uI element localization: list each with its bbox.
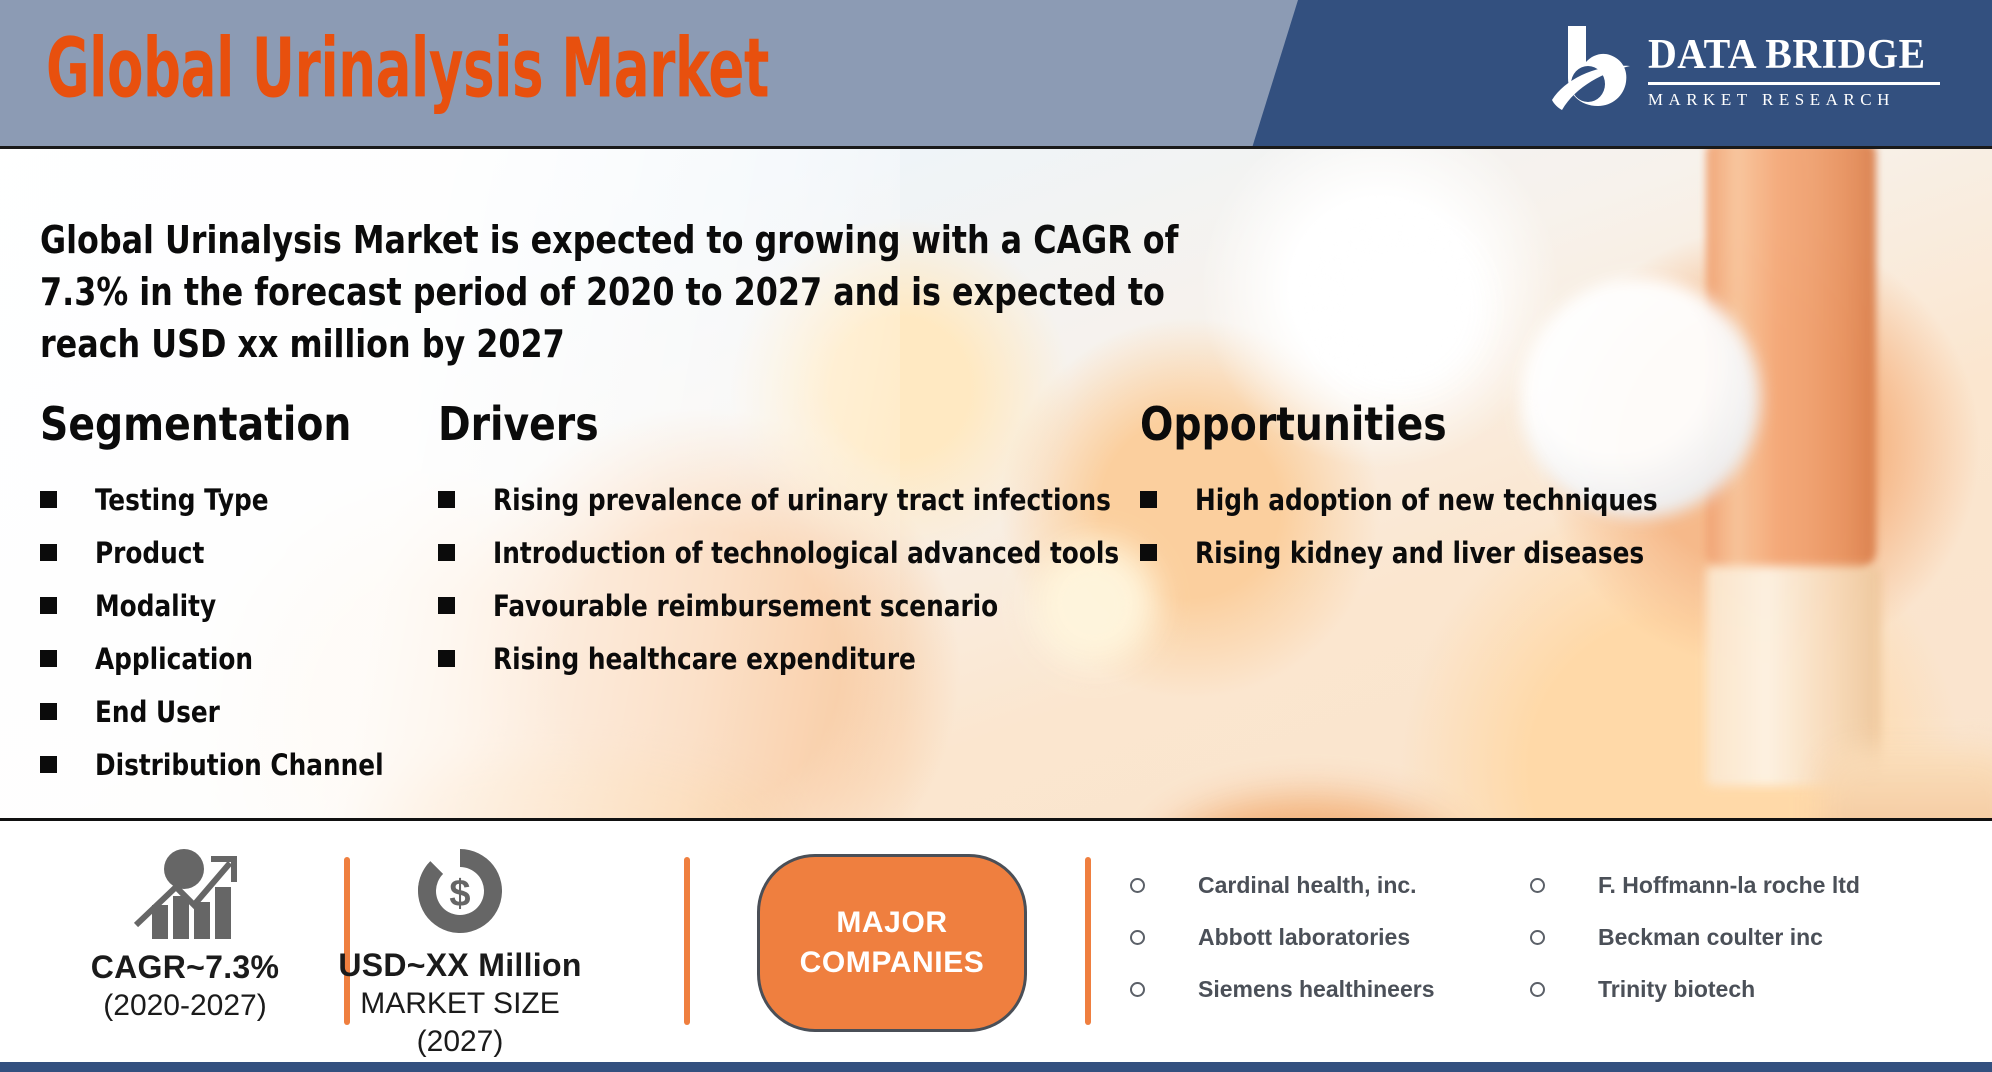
column-heading: Segmentation — [40, 396, 354, 452]
list-item: Abbott laboratories — [1130, 917, 1530, 957]
stat-year: (2027) — [330, 1023, 590, 1061]
column-opportunities: Opportunities High adoption of new techn… — [1140, 396, 1700, 584]
content-divider-rule — [0, 818, 1992, 821]
companies-column-right: F. Hoffmann-la roche ltd Beckman coulter… — [1530, 865, 1930, 1021]
company-name: Trinity biotech — [1598, 976, 1755, 1003]
opportunities-list: High adoption of new techniques Rising k… — [1140, 478, 1700, 575]
column-drivers: Drivers Rising prevalence of urinary tra… — [438, 396, 998, 690]
list-item-label: Distribution Channel — [95, 743, 384, 787]
list-item: High adoption of new techniques — [1140, 478, 1700, 522]
list-item-label: Favourable reimbursement scenario — [493, 584, 998, 628]
list-item-label: Product — [95, 531, 204, 575]
major-companies-label-line2: COMPANIES — [800, 943, 985, 983]
stat-period: (2020-2027) — [60, 987, 310, 1025]
data-bridge-b-swoosh-icon — [1550, 22, 1634, 118]
main-content: Global Urinalysis Market is expected to … — [0, 148, 1992, 818]
circle-bullet-icon — [1530, 878, 1545, 893]
company-name: Abbott laboratories — [1198, 924, 1410, 951]
logo-wordmark: DATA BRIDGE MARKET RESEARCH — [1648, 32, 1940, 109]
list-item: Trinity biotech — [1530, 969, 1930, 1009]
stat-market-size: $ USD~XX Million MARKET SIZE (2027) — [330, 843, 590, 1061]
square-bullet-icon — [438, 544, 455, 561]
major-companies-list: Cardinal health, inc. Abbott laboratorie… — [1130, 865, 1990, 1021]
list-item: Beckman coulter inc — [1530, 917, 1930, 957]
company-name: Beckman coulter inc — [1598, 924, 1823, 951]
circle-bullet-icon — [1130, 878, 1145, 893]
list-item-label: Modality — [95, 584, 216, 628]
column-heading: Drivers — [438, 396, 970, 452]
svg-text:$: $ — [449, 873, 470, 915]
circle-bullet-icon — [1130, 982, 1145, 997]
list-item: Distribution Channel — [40, 743, 370, 787]
square-bullet-icon — [1140, 491, 1157, 508]
infographic-page: Global Urinalysis Market DATA BRIDGE MAR… — [0, 0, 1992, 1072]
company-name: Cardinal health, inc. — [1198, 872, 1417, 899]
vertical-divider — [684, 857, 690, 1025]
list-item: Testing Type — [40, 478, 370, 522]
square-bullet-icon — [1140, 544, 1157, 561]
circle-bullet-icon — [1530, 930, 1545, 945]
stat-label: MARKET SIZE — [330, 985, 590, 1023]
circle-bullet-icon — [1530, 982, 1545, 997]
list-item: End User — [40, 690, 370, 734]
major-companies-button[interactable]: MAJOR COMPANIES — [757, 854, 1027, 1032]
brand-logo: DATA BRIDGE MARKET RESEARCH — [1550, 22, 1940, 118]
square-bullet-icon — [40, 650, 57, 667]
list-item-label: Rising healthcare expenditure — [493, 637, 916, 681]
list-item: Favourable reimbursement scenario — [438, 584, 998, 628]
drivers-list: Rising prevalence of urinary tract infec… — [438, 478, 998, 681]
list-item-label: Application — [95, 637, 253, 681]
list-item: Rising prevalence of urinary tract infec… — [438, 478, 998, 522]
square-bullet-icon — [40, 544, 57, 561]
column-segmentation: Segmentation Testing Type Product Modali… — [40, 396, 370, 796]
stat-value: CAGR~7.3% — [60, 947, 310, 987]
square-bullet-icon — [40, 756, 57, 773]
companies-column-left: Cardinal health, inc. Abbott laboratorie… — [1130, 865, 1530, 1021]
bar-chart-growth-icon — [60, 845, 310, 941]
square-bullet-icon — [40, 703, 57, 720]
segmentation-list: Testing Type Product Modality Applicatio… — [40, 478, 370, 787]
footer-bar — [0, 1062, 1992, 1072]
company-name: Siemens healthineers — [1198, 976, 1435, 1003]
list-item-label: Testing Type — [95, 478, 269, 522]
vertical-divider — [1085, 857, 1091, 1025]
list-item: Application — [40, 637, 370, 681]
header-rule — [0, 146, 1992, 149]
stat-cagr: CAGR~7.3% (2020-2027) — [60, 845, 310, 1025]
logo-subtitle: MARKET RESEARCH — [1648, 90, 1940, 109]
square-bullet-icon — [438, 491, 455, 508]
list-item: Introduction of technological advanced t… — [438, 531, 998, 575]
major-companies-label-line1: MAJOR — [836, 903, 947, 943]
list-item: Cardinal health, inc. — [1130, 865, 1530, 905]
square-bullet-icon — [438, 597, 455, 614]
list-item-label: Rising prevalence of urinary tract infec… — [493, 478, 1111, 522]
list-item-label: High adoption of new techniques — [1195, 478, 1658, 522]
company-name: F. Hoffmann-la roche ltd — [1598, 872, 1860, 899]
square-bullet-icon — [40, 597, 57, 614]
logo-name: DATA BRIDGE — [1648, 32, 1926, 78]
summary-statement: Global Urinalysis Market is expected to … — [40, 214, 1184, 370]
logo-divider — [1648, 82, 1940, 85]
list-item-label: Introduction of technological advanced t… — [493, 531, 1119, 575]
stat-value: USD~XX Million — [330, 945, 590, 985]
header-banner: Global Urinalysis Market DATA BRIDGE MAR… — [0, 0, 1992, 148]
circle-bullet-icon — [1130, 930, 1145, 945]
list-item: Rising kidney and liver diseases — [1140, 531, 1700, 575]
list-item: Modality — [40, 584, 370, 628]
list-item-label: End User — [95, 690, 220, 734]
column-heading: Opportunities — [1140, 396, 1672, 452]
list-item: Product — [40, 531, 370, 575]
page-title: Global Urinalysis Market — [46, 13, 769, 122]
donut-dollar-icon: $ — [330, 843, 590, 939]
list-item: Siemens healthineers — [1130, 969, 1530, 1009]
square-bullet-icon — [438, 650, 455, 667]
square-bullet-icon — [40, 491, 57, 508]
list-item-label: Rising kidney and liver diseases — [1195, 531, 1644, 575]
list-item: Rising healthcare expenditure — [438, 637, 998, 681]
list-item: F. Hoffmann-la roche ltd — [1530, 865, 1930, 905]
